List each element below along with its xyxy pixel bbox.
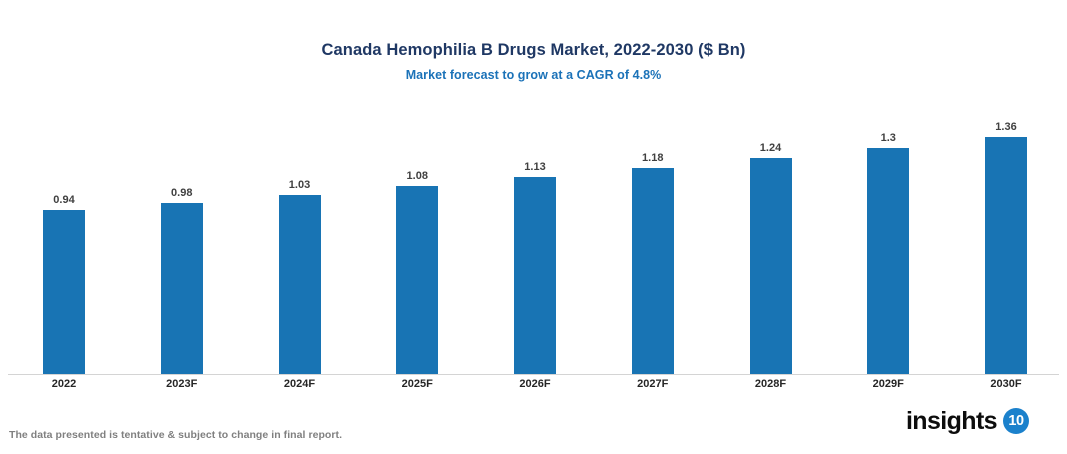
- bar-value-label: 1.13: [498, 161, 572, 173]
- bar[interactable]: [867, 148, 909, 374]
- x-axis-line: [8, 374, 1059, 375]
- bar-group[interactable]: 1.36: [985, 137, 1027, 374]
- bar-value-label: 1.36: [969, 121, 1043, 133]
- bar[interactable]: [632, 168, 674, 374]
- bar-value-label: 1.18: [616, 152, 690, 164]
- bar-group[interactable]: 0.94: [43, 210, 85, 374]
- disclaimer-note: The data presented is tentative & subjec…: [9, 429, 342, 441]
- bar-value-label: 1.08: [380, 170, 454, 182]
- x-axis-tick-label: 2030F: [966, 378, 1046, 390]
- chart-subtitle: Market forecast to grow at a CAGR of 4.8…: [0, 67, 1067, 83]
- bar-group[interactable]: 1.18: [632, 168, 674, 374]
- bar[interactable]: [43, 210, 85, 374]
- bar-value-label: 0.98: [145, 187, 219, 199]
- bar[interactable]: [750, 158, 792, 374]
- x-axis-tick-label: 2022: [24, 378, 104, 390]
- logo-badge-label: 10: [1008, 414, 1023, 429]
- plot-area: 0.940.981.031.081.131.181.241.31.36: [0, 104, 1067, 375]
- bar-group[interactable]: 1.08: [396, 186, 438, 374]
- bar-group[interactable]: 0.98: [161, 203, 203, 374]
- bar-value-label: 0.94: [27, 194, 101, 206]
- x-axis-tick-label: 2026F: [495, 378, 575, 390]
- x-axis-tick-label: 2024F: [260, 378, 340, 390]
- bar-value-label: 1.3: [851, 132, 925, 144]
- bar-group[interactable]: 1.13: [514, 177, 556, 374]
- bar[interactable]: [279, 195, 321, 374]
- bar-value-label: 1.03: [263, 179, 337, 191]
- insights10-logo: insights 10: [906, 408, 1029, 434]
- x-axis-tick-labels: 20222023F2024F2025F2026F2027F2028F2029F2…: [0, 378, 1067, 398]
- bar-group[interactable]: 1.03: [279, 195, 321, 374]
- page-title: Canada Hemophilia B Drugs Market, 2022-2…: [0, 40, 1067, 60]
- title-block: Canada Hemophilia B Drugs Market, 2022-2…: [0, 40, 1067, 83]
- bar-group[interactable]: 1.24: [750, 158, 792, 374]
- chart-canvas: Canada Hemophilia B Drugs Market, 2022-2…: [0, 0, 1067, 454]
- logo-badge-circle: 10: [1003, 408, 1029, 434]
- bar[interactable]: [396, 186, 438, 374]
- bar-group[interactable]: 1.3: [867, 148, 909, 374]
- bar-value-label: 1.24: [734, 142, 808, 154]
- x-axis-tick-label: 2029F: [848, 378, 928, 390]
- bar[interactable]: [161, 203, 203, 374]
- x-axis-tick-label: 2028F: [731, 378, 811, 390]
- x-axis-tick-label: 2025F: [377, 378, 457, 390]
- bar[interactable]: [514, 177, 556, 374]
- x-axis-tick-label: 2023F: [142, 378, 222, 390]
- x-axis-tick-label: 2027F: [613, 378, 693, 390]
- logo-wordmark: insights: [906, 408, 997, 434]
- bar[interactable]: [985, 137, 1027, 374]
